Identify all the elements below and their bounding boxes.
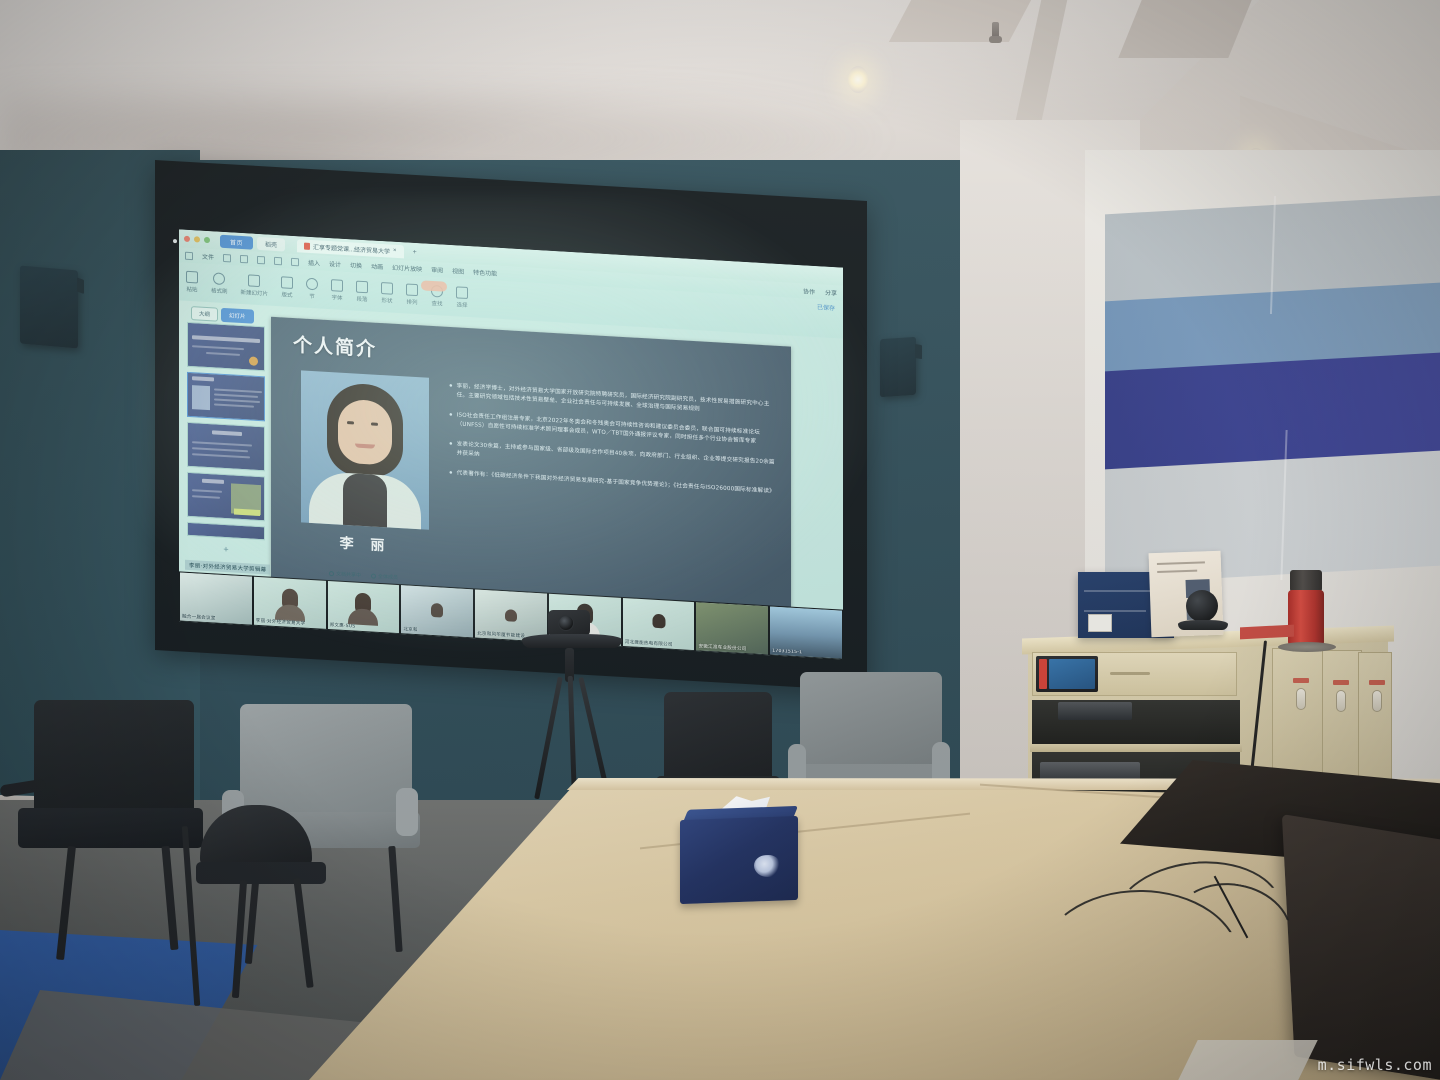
door-lock-1[interactable] [1296, 688, 1306, 710]
ribbon-section[interactable]: 节 [306, 278, 318, 301]
share-status-label: 文档共享中 [336, 570, 361, 578]
slide-bullet-list: ● 李丽，经济学博士，对外经济贸易大学国家开放研究院特聘研究员，国际经济研究院副… [449, 382, 775, 497]
ribbon-format-painter-label: 格式刷 [211, 286, 228, 295]
thumbnail-5[interactable] [187, 522, 265, 540]
portrait-top [343, 473, 387, 530]
wall-speaker-right [880, 337, 916, 398]
save-icon[interactable] [223, 253, 231, 261]
redo-icon[interactable] [274, 256, 282, 264]
ribbon-shape-label: 形状 [382, 296, 393, 305]
ribbon-paste-label: 粘贴 [186, 285, 197, 294]
ribbon-arrange[interactable]: 排列 [406, 283, 418, 306]
drawer-handle[interactable] [1110, 672, 1150, 675]
chair-black-left-back [34, 700, 194, 820]
participant-name: 李丽·对外经济贸易大学 [256, 618, 324, 628]
new-tab-button[interactable]: + [413, 248, 417, 255]
ppt-file-icon [304, 242, 310, 249]
participant-tile[interactable]: 17031515-1 [770, 606, 842, 658]
camera-lens-icon [558, 615, 574, 631]
ribbon-layout[interactable]: 版式 [281, 276, 293, 299]
menu-item-animation[interactable]: 动画 [371, 261, 383, 271]
participant-head [431, 603, 443, 618]
ribbon-arrange-label: 排列 [407, 298, 418, 307]
ribbon-select-label: 选择 [457, 300, 468, 309]
chair-gray-arm-right [396, 788, 418, 836]
toggle-outline[interactable]: 大纲 [191, 306, 218, 322]
ribbon-shape[interactable]: 形状 [381, 282, 393, 305]
play-icon[interactable] [291, 257, 299, 265]
webcam [1178, 590, 1228, 638]
people-icon [371, 573, 376, 578]
participant-tile[interactable]: 李丽·对外经济贸易大学 [254, 577, 326, 629]
arrange-icon [406, 283, 418, 296]
shape-icon [381, 282, 393, 295]
participant-tile[interactable]: 安徽江淮车业股份公司 [696, 602, 768, 654]
ribbon-font-label: 字体 [332, 293, 343, 302]
add-slide-button[interactable]: + [187, 541, 265, 557]
paragraph-icon [356, 281, 368, 294]
door-label-3 [1369, 680, 1385, 685]
menu-item-insert[interactable]: 插入 [308, 258, 320, 268]
share-icon [329, 571, 334, 576]
tab-cloud[interactable]: 稻壳 [257, 236, 285, 251]
new-slide-icon [248, 274, 260, 287]
print-icon[interactable] [240, 254, 248, 262]
format-painter-icon [213, 272, 225, 285]
soffit-strip-b [1118, 0, 1251, 58]
close-icon[interactable]: × [393, 248, 397, 254]
ribbon-new-slide[interactable]: 新建幻灯片 [241, 274, 269, 298]
file-menu[interactable]: 文件 [202, 252, 214, 262]
undo-icon[interactable] [257, 255, 265, 263]
chair-folding-seat [196, 862, 326, 884]
ai-feature-chip[interactable] [421, 280, 447, 291]
tissue-box-logo [754, 855, 780, 878]
white-tag [1088, 614, 1112, 632]
menu-item-share[interactable]: 分享 [825, 288, 837, 298]
camera-mount-plate [522, 634, 622, 648]
bullet-dot-icon: ● [449, 382, 453, 400]
sprinkler-head [992, 22, 999, 42]
rack-device-upper [1058, 702, 1132, 720]
bullet-dot-icon: ● [449, 440, 453, 458]
door-label-1 [1293, 678, 1309, 683]
ribbon-select[interactable]: 选择 [456, 286, 468, 309]
section-icon [306, 278, 318, 291]
ribbon-new-slide-label: 新建幻灯片 [241, 288, 269, 298]
window-minimize-dot[interactable] [194, 236, 200, 242]
thermos-coaster [1278, 642, 1336, 652]
menu-item-slideshow[interactable]: 幻灯片放映 [392, 263, 422, 274]
portrait-eye-right [371, 422, 378, 425]
ribbon-paragraph-label: 段落 [357, 295, 368, 304]
ribbon-layout-label: 版式 [282, 290, 293, 299]
av-control-panel[interactable] [1036, 656, 1098, 692]
ribbon-paste[interactable]: 粘贴 [186, 271, 198, 294]
ribbon-find-label: 查找 [432, 299, 443, 308]
chair-gray-right-back [800, 672, 942, 772]
bullet-dot-icon: ● [449, 469, 453, 478]
chair-black-mid-back [664, 692, 772, 784]
screenshot-root: 录制中 首页 稻壳 汇享专题党课...经济贸易大学 × + [0, 0, 1440, 1080]
thumbnail-3[interactable] [187, 422, 265, 471]
participant-tile[interactable]: 融合一届会议室 [180, 572, 252, 624]
ribbon-format-painter[interactable]: 格式刷 [211, 272, 228, 295]
menu-item-view[interactable]: 视图 [452, 266, 464, 276]
soffit-strip-a [889, 0, 1031, 42]
tripod-leg [534, 677, 563, 800]
menubar-right-group: 协作 分享 [803, 286, 837, 297]
document-tab-label: 汇享专题党课...经济贸易大学 [313, 242, 390, 255]
speaker-portrait [301, 370, 429, 529]
toggle-slides[interactable]: 幻灯片 [221, 308, 254, 324]
thermos-cap [1290, 570, 1322, 592]
participant-head [652, 614, 665, 629]
chair-black-left-seat [18, 808, 203, 848]
select-icon [456, 286, 468, 299]
wall-speaker-left [20, 265, 78, 348]
tissue-box-body [680, 816, 798, 904]
participant-tile[interactable]: 郑文惠·SUS [328, 581, 400, 633]
control-touchscreen[interactable] [1049, 659, 1095, 689]
watermark: m.sifwls.com [1318, 1056, 1432, 1074]
door-lock-2[interactable] [1336, 690, 1346, 712]
door-lock-3[interactable] [1372, 690, 1382, 712]
menu-icon[interactable] [185, 251, 193, 259]
webcam-lens-icon [1186, 590, 1218, 622]
chair-gray-back [240, 704, 412, 820]
ribbon-paragraph[interactable]: 段落 [356, 281, 368, 304]
thumbnail-2[interactable] [187, 372, 265, 421]
participant-name: 郑文惠·SUS [330, 622, 398, 632]
ribbon-font[interactable]: 字体 [331, 279, 343, 302]
paste-icon [186, 271, 198, 284]
door-label-2 [1333, 680, 1349, 685]
menu-item-features[interactable]: 特色功能 [473, 267, 497, 277]
credenza-shelf [1030, 744, 1242, 752]
thumbnail-4[interactable] [187, 472, 265, 521]
layout-icon [281, 276, 293, 289]
bullet-dot-icon: ● [449, 411, 453, 429]
power-button[interactable] [1039, 659, 1047, 689]
portrait-eye-left [347, 421, 354, 424]
portrait-face [338, 399, 392, 466]
participant-tile[interactable]: 北京和 [401, 585, 473, 637]
participants-label: 全体成员 [378, 573, 398, 581]
tissue-box [680, 816, 798, 904]
menu-item-collaborate[interactable]: 协作 [803, 286, 815, 296]
speaker-name: 李 丽 [301, 530, 429, 557]
window-maximize-dot[interactable] [204, 237, 210, 243]
screen-image-area: 首页 稻壳 汇享专题党课...经济贸易大学 × + 文件 插入 设计 [179, 229, 843, 659]
recording-dot [173, 239, 177, 243]
paper-on-table [1178, 1040, 1318, 1080]
downlight-center [848, 66, 868, 93]
tab-home[interactable]: 首页 [220, 234, 253, 249]
menu-item-review[interactable]: 审阅 [431, 265, 443, 275]
menu-item-transition[interactable]: 切换 [350, 260, 362, 270]
slide-thumbnail-rail[interactable]: + [187, 322, 265, 581]
thumbnail-1[interactable] [187, 322, 265, 371]
window-close-dot[interactable] [184, 236, 190, 242]
menu-item-design[interactable]: 设计 [329, 259, 341, 269]
save-status: 已保存 [817, 302, 835, 312]
thermos [1288, 590, 1324, 646]
slide-title: 个人简介 [293, 330, 377, 362]
ribbon-section-label: 节 [309, 292, 315, 300]
participants-status[interactable]: 全体成员 [371, 572, 398, 581]
font-icon [331, 279, 343, 292]
webcam-base [1178, 620, 1228, 630]
